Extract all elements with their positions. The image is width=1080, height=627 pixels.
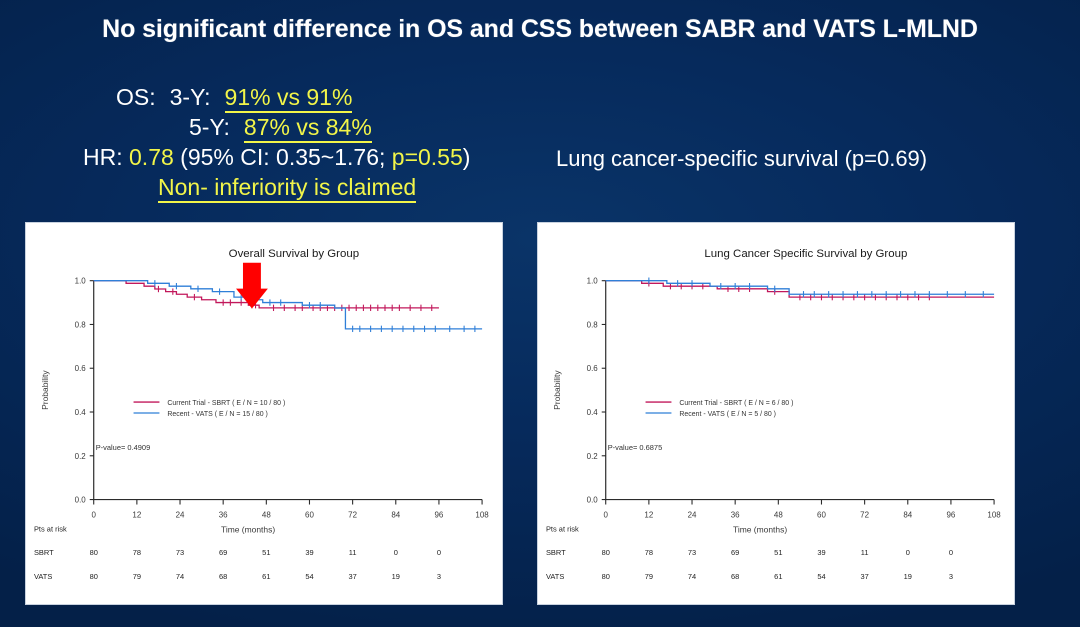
risk-row-value: 51 (774, 548, 782, 557)
y-tick-label: 0.2 (75, 452, 87, 461)
os-statistics-block: OS:3-Y:91% vs 91% 5-Y:87% vs 84% HR: 0.7… (78, 82, 470, 202)
stat-row-conclusion: Non- inferiority is claimed (78, 172, 470, 202)
risk-row-value: 69 (731, 548, 739, 557)
y-tick-label: 0.4 (587, 408, 599, 417)
risk-row-value: 79 (133, 572, 141, 581)
km-curve-sbrt (94, 281, 439, 308)
y-tick-label: 0.2 (587, 452, 599, 461)
x-tick-label: 84 (903, 510, 912, 519)
risk-row-value: 74 (176, 572, 184, 581)
x-tick-label: 12 (132, 510, 141, 519)
chart-title: Lung Cancer Specific Survival by Group (704, 248, 907, 260)
x-tick-label: 36 (731, 510, 740, 519)
y-axis-title: Probability (40, 370, 50, 410)
risk-row-value: 51 (262, 548, 270, 557)
risk-row-value: 0 (906, 548, 910, 557)
y-tick-label: 0.0 (587, 496, 599, 505)
x-tick-label: 72 (860, 510, 869, 519)
risk-row-value: 39 (305, 548, 313, 557)
risk-table-caption: Pts at risk (34, 524, 67, 533)
stat-row-3y: OS:3-Y:91% vs 91% (78, 82, 470, 112)
risk-row-value: 54 (305, 572, 313, 581)
risk-row-label: VATS (34, 572, 52, 581)
legend-label: Recent - VATS ( E / N = 5 / 80 ) (679, 411, 776, 418)
risk-row-value: 74 (688, 572, 696, 581)
y-axis-title: Probability (552, 370, 562, 410)
hr-pvalue: p=0.55 (392, 144, 463, 170)
risk-row-value: 78 (645, 548, 653, 557)
risk-row-value: 0 (394, 548, 398, 557)
non-inferiority-claim: Non- inferiority is claimed (158, 174, 416, 203)
x-axis-title: Time (months) (733, 524, 787, 534)
risk-row-value: 61 (774, 572, 782, 581)
x-tick-label: 60 (305, 510, 314, 519)
x-tick-label: 108 (475, 510, 489, 519)
risk-row-value: 37 (348, 572, 356, 581)
css-caption: Lung cancer-specific survival (p=0.69) (556, 146, 927, 172)
pvalue-text: P-value= 0.4909 (96, 443, 151, 452)
y-tick-label: 0.8 (587, 320, 599, 329)
label-3y: 3-Y: (170, 84, 211, 110)
risk-row-value: 11 (349, 548, 357, 557)
x-tick-label: 96 (434, 510, 443, 519)
km-curve-vats (94, 281, 482, 329)
risk-row-value: 54 (817, 572, 825, 581)
label-5y: 5-Y: (189, 114, 230, 140)
risk-row-value: 80 (602, 548, 610, 557)
pvalue-text: P-value= 0.6875 (608, 443, 663, 452)
risk-row-value: 3 (437, 572, 441, 581)
risk-row-value: 3 (949, 572, 953, 581)
risk-row-value: 19 (904, 572, 912, 581)
risk-row-value: 78 (133, 548, 141, 557)
risk-row-value: 80 (602, 572, 610, 581)
risk-row-value: 0 (437, 548, 441, 557)
y-tick-label: 0.0 (75, 496, 87, 505)
x-axis-title: Time (months) (221, 524, 275, 534)
risk-row-value: 68 (219, 572, 227, 581)
risk-row-value: 37 (860, 572, 868, 581)
x-tick-label: 60 (817, 510, 826, 519)
y-tick-label: 0.6 (75, 364, 87, 373)
risk-row-value: 61 (262, 572, 270, 581)
stat-row-hr: HR: 0.78 (95% CI: 0.35~1.76; p=0.55) (78, 142, 470, 172)
lung-cancer-specific-survival-chart: Lung Cancer Specific Survival by Group0.… (537, 222, 1015, 605)
risk-row-value: 11 (861, 548, 869, 557)
value-5y: 87% vs 84% (244, 114, 372, 143)
risk-row-value: 79 (645, 572, 653, 581)
risk-table-caption: Pts at risk (546, 524, 579, 533)
y-tick-label: 1.0 (75, 277, 87, 286)
hr-close-paren: ) (463, 144, 471, 170)
y-tick-label: 1.0 (587, 277, 599, 286)
km-curve-vats (606, 281, 994, 295)
y-tick-label: 0.4 (75, 408, 87, 417)
x-tick-label: 24 (176, 510, 185, 519)
x-tick-label: 48 (262, 510, 271, 519)
hr-label: HR: (83, 144, 123, 170)
risk-row-label: VATS (546, 572, 564, 581)
x-tick-label: 72 (348, 510, 357, 519)
y-tick-label: 0.6 (587, 364, 599, 373)
risk-row-value: 19 (392, 572, 400, 581)
x-tick-label: 48 (774, 510, 783, 519)
legend-label: Current Trial - SBRT ( E / N = 10 / 80 ) (167, 400, 285, 407)
stat-row-5y: 5-Y:87% vs 84% (78, 112, 470, 142)
x-tick-label: 24 (688, 510, 697, 519)
risk-row-label: SBRT (546, 548, 566, 557)
x-tick-label: 84 (391, 510, 400, 519)
hr-value: 0.78 (129, 144, 174, 170)
value-3y: 91% vs 91% (225, 84, 353, 113)
x-tick-label: 36 (219, 510, 228, 519)
x-tick-label: 0 (91, 510, 96, 519)
hr-confidence-interval: (95% CI: 0.35~1.76; (180, 144, 385, 170)
x-tick-label: 12 (644, 510, 653, 519)
os-label: OS: (116, 84, 156, 110)
risk-row-value: 0 (949, 548, 953, 557)
risk-row-value: 69 (219, 548, 227, 557)
chart-axes (94, 281, 482, 500)
x-tick-label: 0 (603, 510, 608, 519)
chart-title: Overall Survival by Group (229, 248, 359, 260)
overall-survival-chart: Overall Survival by Group0.00.20.40.60.8… (25, 222, 503, 605)
chart-axes (606, 281, 994, 500)
page-title: No significant difference in OS and CSS … (0, 15, 1080, 44)
risk-row-value: 68 (731, 572, 739, 581)
risk-row-label: SBRT (34, 548, 54, 557)
risk-row-value: 73 (176, 548, 184, 557)
risk-row-value: 80 (90, 548, 98, 557)
legend-label: Recent - VATS ( E / N = 15 / 80 ) (167, 411, 267, 418)
legend-label: Current Trial - SBRT ( E / N = 6 / 80 ) (679, 400, 793, 407)
risk-row-value: 39 (817, 548, 825, 557)
x-tick-label: 108 (987, 510, 1001, 519)
y-tick-label: 0.8 (75, 320, 87, 329)
x-tick-label: 96 (946, 510, 955, 519)
risk-row-value: 80 (90, 572, 98, 581)
risk-row-value: 73 (688, 548, 696, 557)
